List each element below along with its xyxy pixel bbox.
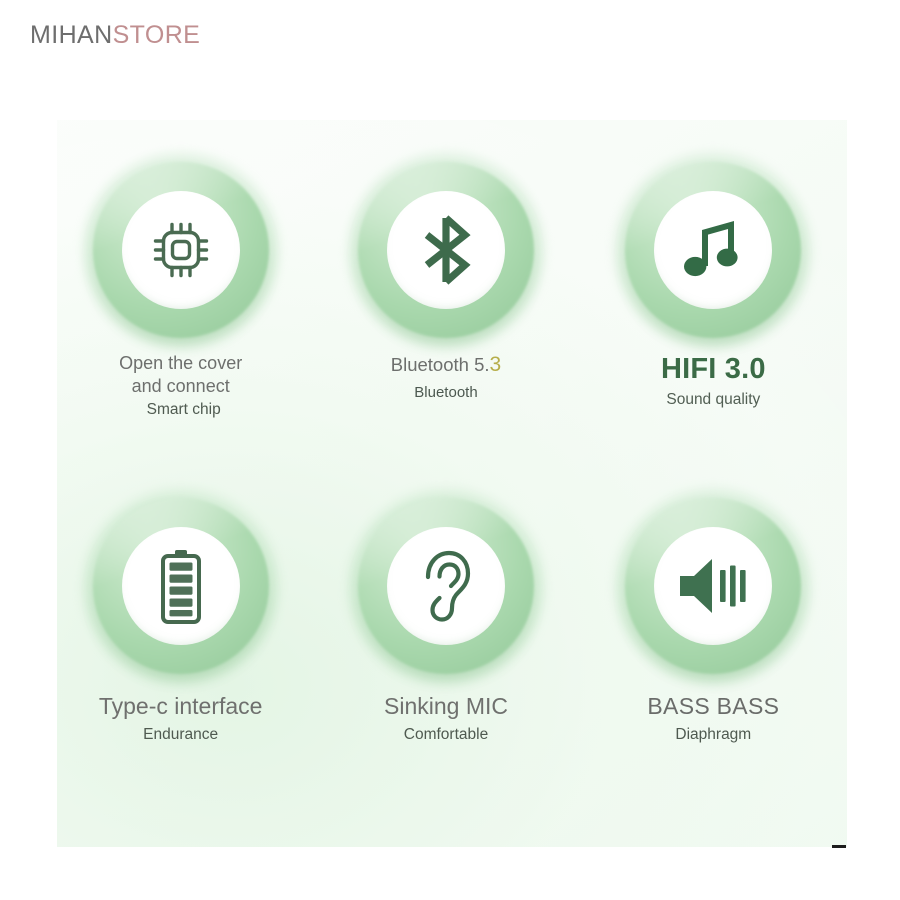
disc-inner xyxy=(122,527,240,645)
feature-labels: BASS BASS Diaphragm xyxy=(647,692,779,745)
feature-label-main: HIFI 3.0 xyxy=(661,352,766,387)
feature-label-sub: Sound quality xyxy=(661,391,766,410)
feature-icon-disc xyxy=(93,498,269,674)
feature-icon-disc xyxy=(358,498,534,674)
feature-labels: HIFI 3.0 Sound quality xyxy=(661,352,766,410)
feature-labels: Sinking MIC Comfortable xyxy=(384,692,508,745)
feature-icon-disc xyxy=(358,162,534,338)
disc-inner xyxy=(654,527,772,645)
brand-logo-part-b: STORE xyxy=(113,21,201,49)
brand-logo-part-a: MIHAN xyxy=(30,21,113,49)
panel-corner-mark xyxy=(832,845,846,848)
feature-icon-disc xyxy=(625,498,801,674)
feature-icon-disc xyxy=(625,162,801,338)
ear-icon xyxy=(416,548,476,624)
feature-label-sub: Endurance xyxy=(99,726,263,745)
feature-label-main: Bluetooth 5.3 xyxy=(391,352,501,378)
feature-grid: Open the cover and connect Smart chip Bl… xyxy=(57,150,847,810)
feature-item-hifi: HIFI 3.0 Sound quality xyxy=(582,150,845,480)
brand-logo: MIHANSTORE xyxy=(30,23,200,48)
feature-labels: Bluetooth 5.3 Bluetooth xyxy=(391,352,501,402)
music-note-icon xyxy=(681,216,745,284)
feature-labels: Type-c interface Endurance xyxy=(99,692,263,745)
bluetooth-icon xyxy=(417,214,475,286)
disc-inner xyxy=(654,191,772,309)
feature-item-sinking-mic: Sinking MIC Comfortable xyxy=(314,480,577,810)
disc-inner xyxy=(122,191,240,309)
disc-inner xyxy=(387,191,505,309)
feature-item-bluetooth: Bluetooth 5.3 Bluetooth xyxy=(314,150,577,480)
feature-item-type-c: Type-c interface Endurance xyxy=(49,480,312,810)
battery-icon xyxy=(158,548,204,624)
speaker-volume-icon xyxy=(676,557,750,615)
feature-label-main: Open the cover and connect xyxy=(119,352,242,398)
feature-label-sub: Bluetooth xyxy=(391,384,501,402)
feature-label-sub: Comfortable xyxy=(384,726,508,745)
feature-label-sub: Smart chip xyxy=(122,401,245,420)
feature-label-main: Sinking MIC xyxy=(384,692,508,720)
feature-label-sub: Diaphragm xyxy=(647,726,779,745)
feature-item-smart-chip: Open the cover and connect Smart chip xyxy=(49,150,312,480)
disc-inner xyxy=(387,527,505,645)
smart-chip-icon xyxy=(148,217,214,283)
feature-label-main-highlight: 3 xyxy=(490,353,502,376)
feature-item-bass: BASS BASS Diaphragm xyxy=(582,480,845,810)
product-feature-graphic: MIHANSTORE xyxy=(0,0,900,900)
feature-labels: Open the cover and connect Smart chip xyxy=(119,352,242,420)
feature-label-main: Type-c interface xyxy=(99,692,263,720)
feature-icon-disc xyxy=(93,162,269,338)
feature-label-main: BASS BASS xyxy=(647,692,779,720)
feature-label-main-prefix: Bluetooth 5. xyxy=(391,354,490,375)
